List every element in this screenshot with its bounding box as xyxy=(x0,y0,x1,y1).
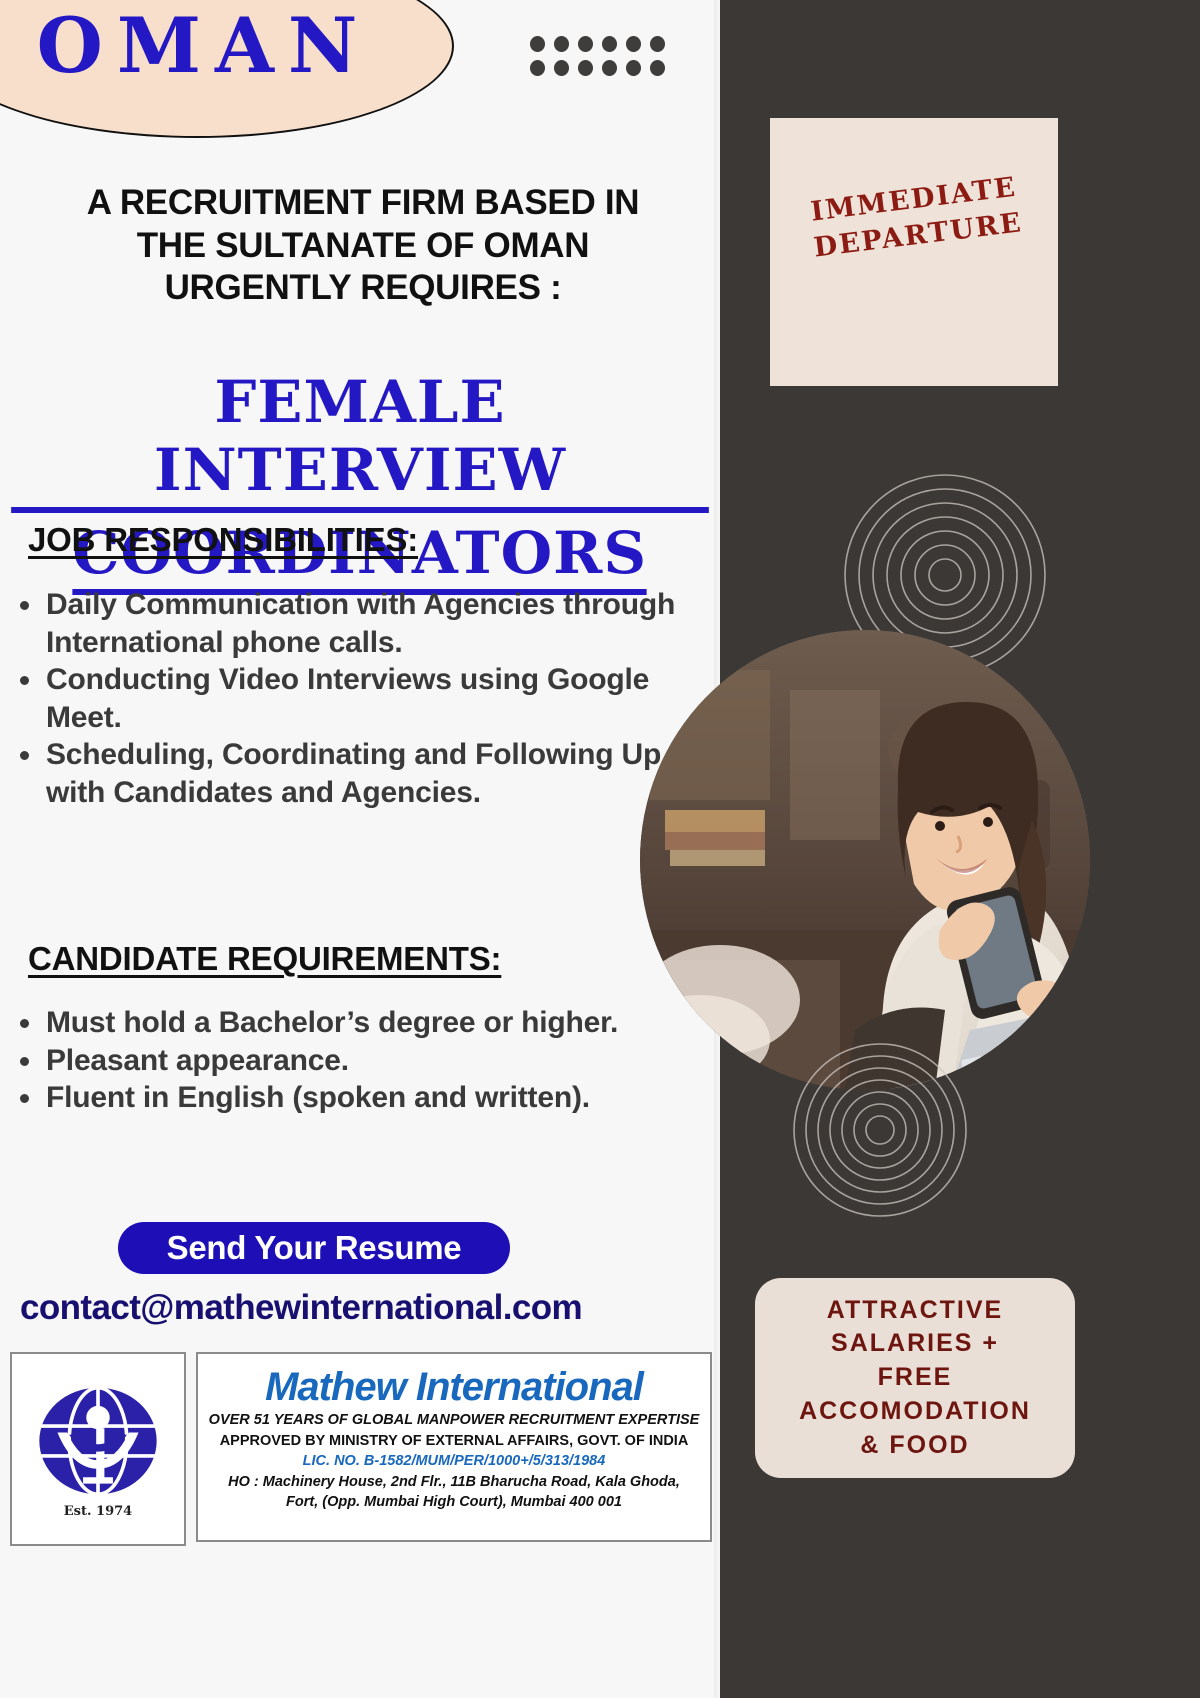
company-approval: APPROVED BY MINISTRY OF EXTERNAL AFFAIRS… xyxy=(198,1431,710,1452)
dot xyxy=(554,60,569,76)
company-license: LIC. NO. B-1582/MUM/PER/1000+/5/313/1984 xyxy=(198,1451,710,1472)
dot xyxy=(554,36,569,52)
dot xyxy=(578,60,593,76)
logo-est-label: Est. 1974 xyxy=(64,1504,132,1519)
salary-line-4: ACCOMODATION xyxy=(799,1395,1031,1429)
salary-line-5: & FOOD xyxy=(799,1429,1031,1463)
dot xyxy=(530,36,545,52)
dot xyxy=(650,36,665,52)
company-address-line-2: Fort, (Opp. Mumbai High Court), Mumbai 4… xyxy=(198,1492,710,1513)
responsibilities-heading: JOB RESPONSIBILITIES: xyxy=(28,521,418,559)
intro-line-2: THE SULTANATE OF OMAN xyxy=(40,225,686,268)
requirements-heading: CANDIDATE REQUIREMENTS: xyxy=(28,940,501,978)
company-tagline: OVER 51 YEARS OF GLOBAL MANPOWER RECRUIT… xyxy=(198,1410,710,1431)
list-item: Conducting Video Interviews using Google… xyxy=(46,661,696,736)
dot xyxy=(602,36,617,52)
list-item: Daily Communication with Agencies throug… xyxy=(46,586,696,661)
list-item: Fluent in English (spoken and written). xyxy=(46,1079,666,1117)
list-item: Pleasant appearance. xyxy=(46,1042,666,1080)
send-resume-button[interactable]: Send Your Resume xyxy=(118,1222,510,1274)
page-title: FEMALE INTERVIEW COORDINATORS xyxy=(18,368,702,601)
list-item: Scheduling, Coordinating and Following U… xyxy=(46,736,696,811)
photo-illustration xyxy=(640,630,1090,1090)
salary-benefits-label: ATTRACTIVE SALARIES + FREE ACCOMODATION … xyxy=(799,1294,1031,1463)
dot xyxy=(578,36,593,52)
contact-email[interactable]: contact@mathewinternational.com xyxy=(20,1288,582,1328)
salary-line-2: SALARIES + xyxy=(799,1327,1031,1361)
dot xyxy=(650,60,665,76)
salary-line-3: FREE xyxy=(799,1361,1031,1395)
company-details-box: Mathew International OVER 51 YEARS OF GL… xyxy=(196,1352,712,1542)
company-name: Mathew International xyxy=(198,1364,710,1410)
job-title-line-1: FEMALE INTERVIEW xyxy=(11,368,709,513)
intro-line-3: URGENTLY REQUIRES : xyxy=(40,267,686,310)
dot xyxy=(626,36,641,52)
list-item: Must hold a Bachelor’s degree or higher. xyxy=(46,1004,666,1042)
requirements-list: Must hold a Bachelor’s degree or higher.… xyxy=(0,1004,666,1117)
dot xyxy=(626,60,641,76)
candidate-photo xyxy=(640,630,1090,1090)
responsibilities-list: Daily Communication with Agencies throug… xyxy=(0,586,696,811)
country-badge-label: OMAN xyxy=(23,8,372,84)
company-address-line-1: HO : Machinery House, 2nd Flr., 11B Bhar… xyxy=(198,1472,710,1493)
dot-grid-decoration xyxy=(530,36,674,84)
intro-line-1: A RECRUITMENT FIRM BASED IN xyxy=(40,182,686,225)
intro-text: A RECRUITMENT FIRM BASED IN THE SULTANAT… xyxy=(40,182,686,310)
company-logo-box: Est. 1974 xyxy=(10,1352,186,1546)
salary-benefits-box: ATTRACTIVE SALARIES + FREE ACCOMODATION … xyxy=(755,1278,1075,1478)
poster-root: OMAN A RECRUITMENT FIRM BASED IN THE SUL… xyxy=(0,0,1200,1698)
dot xyxy=(530,60,545,76)
globe-logo-icon xyxy=(34,1380,162,1502)
dot xyxy=(602,60,617,76)
salary-line-1: ATTRACTIVE xyxy=(799,1294,1031,1328)
